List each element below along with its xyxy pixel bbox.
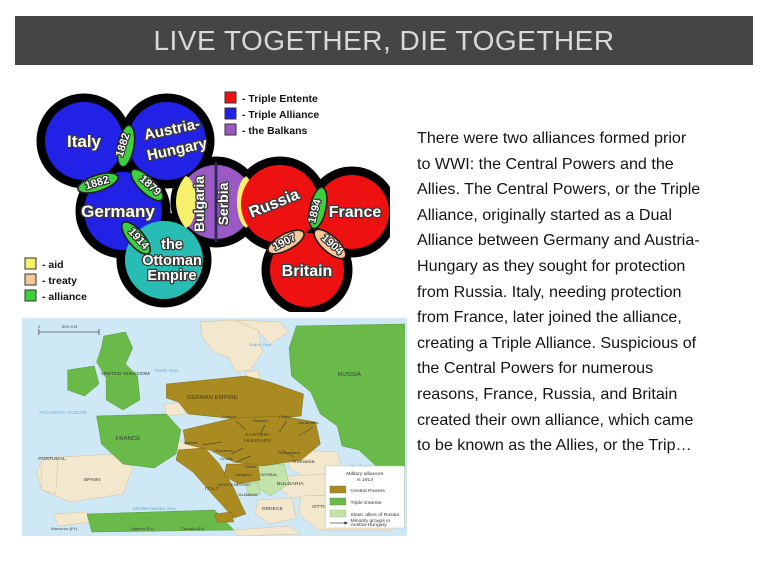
map-label-austria: AUSTRIA- [245,432,271,437]
legend-label-triple-entente: - Triple Entente [242,93,318,105]
map-label-poles: Poles [279,414,290,419]
map-label-mediterranean-sea: Mediterranean Sea [133,506,176,511]
legend-swatch-aid [25,258,36,269]
slide-title-bar: LIVE TOGETHER, DIE TOGETHER [15,16,753,65]
map-legend-title-line2: in 1914 [357,477,374,482]
venn-svg: .cl{font-family:"Liberation Sans",sans-s… [18,84,390,312]
venn-label-bulgaria: Bulgaria [191,176,207,232]
map-label-morocco-fr: Morocco (Fr) [51,526,78,531]
map-label-spain: SPAIN [83,477,100,482]
map-label-czechs: Czechs [222,414,236,419]
map-portugal [41,458,58,494]
venn-label-germany: Germany [81,202,155,221]
map-label-romanians: Romanians [278,450,300,455]
map-label-portugal: PORTUGAL [38,456,66,461]
map-label-ukrainians: Ukrainians [298,420,318,425]
map-legend: Military alliances in 1914 Central Power… [325,466,404,528]
venn-label-ottoman-line2: Ottoman [142,253,202,269]
venn-legend-groups: - Triple Entente - Triple Alliance - the… [225,92,319,137]
map-legend-swatch-triple-entente [330,498,346,505]
venn-label-italy: Italy [67,132,102,151]
legend-label-aid: - aid [42,259,64,271]
alliance-venn-diagram: .cl{font-family:"Liberation Sans",sans-s… [18,84,390,312]
legend-label-triple-alliance: - Triple Alliance [242,109,319,121]
map-label-north-sea: North Sea [155,368,178,373]
map-label-france: FRANCE [116,436,141,441]
venn-legend-links: - aid - treaty - alliance [25,258,87,303]
legend-swatch-triple-alliance [225,108,236,119]
map-svg: .mlab{font-family:"Liberation Sans",sans… [22,318,407,536]
legend-swatch-treaty [25,274,36,285]
map-legend-title-line1: Military alliances [346,471,384,476]
map-label-slovenes: Slovenes [215,448,233,453]
venn-label-france: France [329,204,382,221]
body-paragraph: There were two alliances formed prior to… [417,126,702,459]
legend-swatch-alliance [25,290,36,301]
map-label-slovaks: Slovaks [253,418,268,423]
map-label-serbs: Serbs [245,464,256,469]
map-scale-label: 500 KM [62,324,78,329]
map-label-greece: GREECE [262,506,283,511]
venn-label-serbia: Serbia [215,182,231,225]
map-label-montenegro: MONTENEGRO [217,482,251,487]
map-label-romania: Romania [292,459,314,464]
map-legend-label-triple-entente: Triple Entente [350,500,382,505]
map-legend-swatch-slavic-allies [330,510,346,517]
slide-root: LIVE TOGETHER, DIE TOGETHER .cl{font-fam… [0,0,768,561]
map-label-tunisia-fr: Tunisia (Fr) [181,526,205,531]
map-label-hungary: HUNGARY [244,438,272,443]
legend-swatch-balkans [225,124,236,135]
map-legend-label-central-powers: Central Powers [350,488,385,493]
map-label-united-kingdom: UNITED KINGDOM [101,371,149,376]
map-label-atlantic-ocean: ATLANTIC OCEAN [39,410,87,415]
map-label-italians: Italians [184,440,198,445]
map-label-albania: ALBANIA [239,492,258,497]
legend-label-balkans: - the Balkans [242,125,308,137]
legend-label-alliance: - alliance [42,291,87,303]
map-label-german-empire: GERMAN EMPIRE [187,395,238,400]
map-label-croats: Croats [220,456,233,461]
map-label-algeria-fr: Algeria (Fr) [131,526,154,531]
map-label-bulgaria: BULGARIA [277,481,305,486]
page-title: LIVE TOGETHER, DIE TOGETHER [153,25,614,57]
map-legend-label-minority-line2: Austria-Hungary [350,522,387,527]
legend-swatch-triple-entente [225,92,236,103]
map-legend-label-slavic-allies: Slavic allies of Russia [350,512,399,517]
venn-label-ottoman-line3: Empire [147,268,196,284]
map-label-serbia: SERBIA [260,472,277,477]
venn-label-britain: Britain [282,263,333,280]
map-label-baltic-sea: Baltic Sea [249,342,271,347]
venn-label-ottoman-line1: the [161,237,183,253]
map-label-russia: RUSSIA [338,372,361,377]
map-algeria-tunisia [87,510,234,532]
europe-1914-map: .mlab{font-family:"Liberation Sans",sans… [22,318,407,536]
map-label-sarajevo: Sarajevo [235,473,251,477]
map-legend-swatch-central-powers [330,486,346,493]
map-label-italy: ITALY [205,486,220,491]
legend-label-treaty: - treaty [42,275,77,287]
map-sicily [215,512,234,522]
